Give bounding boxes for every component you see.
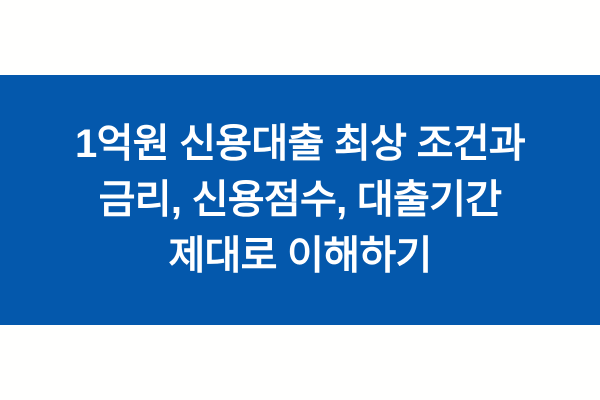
page-title: 1억원 신용대출 최상 조건과 금리, 신용점수, 대출기간 제대로 이해하기 xyxy=(0,116,600,284)
blue-banner: 1억원 신용대출 최상 조건과 금리, 신용점수, 대출기간 제대로 이해하기 xyxy=(0,75,600,325)
thumbnail-canvas: 1억원 신용대출 최상 조건과 금리, 신용점수, 대출기간 제대로 이해하기 xyxy=(0,0,600,400)
title-line-3: 제대로 이해하기 xyxy=(8,228,592,284)
title-line-2: 금리, 신용점수, 대출기간 xyxy=(8,172,592,228)
title-line-1: 1억원 신용대출 최상 조건과 xyxy=(8,116,592,172)
